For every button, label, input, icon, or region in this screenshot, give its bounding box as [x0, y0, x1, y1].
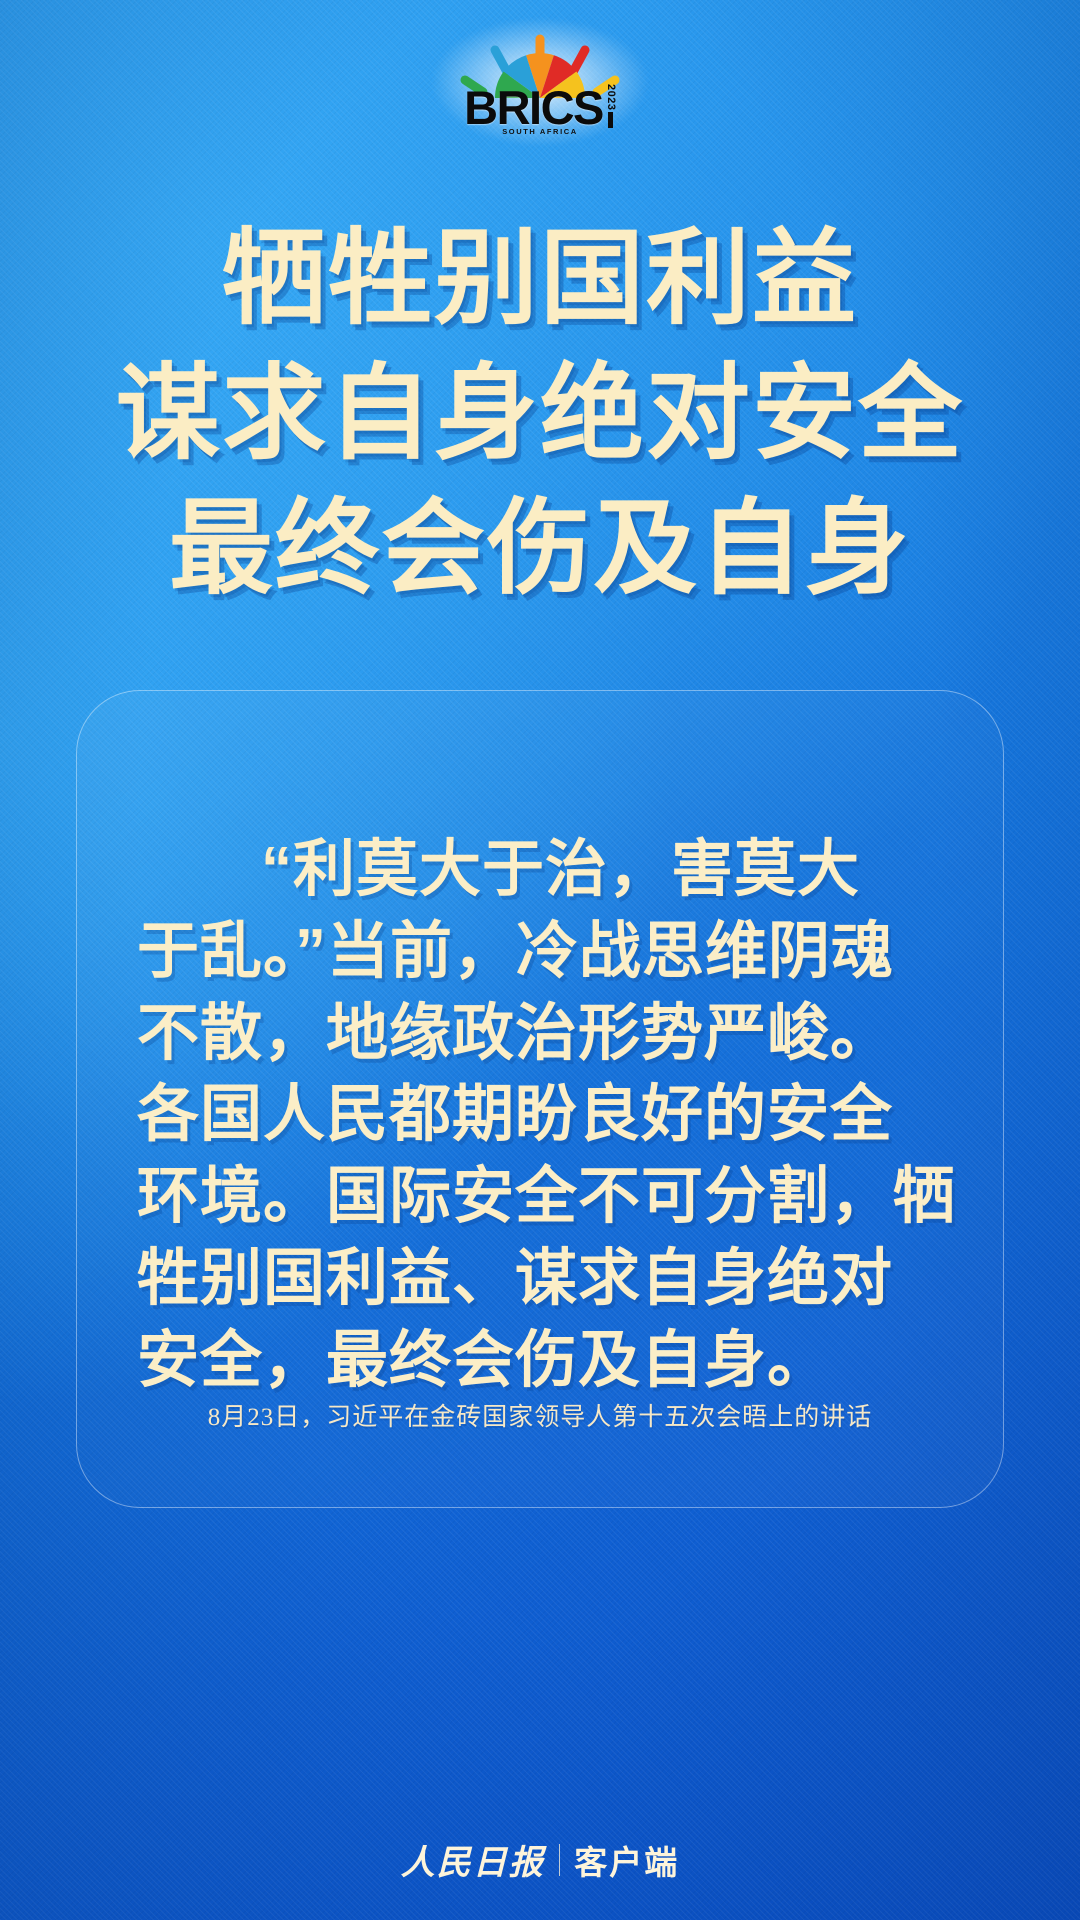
page-title: 牺牲别国利益 谋求自身绝对安全 最终会伤及自身: [0, 212, 1080, 618]
logo-subtitle: SOUTH AFRICA: [415, 127, 665, 136]
logo-wordmark-row: BRICS 2023: [415, 84, 665, 130]
headline-line-3: 最终会伤及自身: [0, 482, 1080, 617]
headline-line-2: 谋求自身绝对安全: [0, 347, 1080, 482]
product-name: 客户端: [574, 1836, 679, 1884]
quote-line-2: 于乱。”当前，冷战思维阴魂: [137, 911, 943, 993]
quote-line-4: 各国人民都期盼良好的安全: [137, 1074, 943, 1156]
footer-divider: [559, 1844, 561, 1876]
brics-wordmark: BRICS: [464, 85, 603, 130]
quote-attribution: 8月23日，习近平在金砖国家领导人第十五次会晤上的讲话: [77, 1397, 1003, 1433]
publisher-name: 人民日报: [401, 1835, 545, 1884]
quote-line-5: 环境。国际安全不可分割，牺: [137, 1156, 943, 1238]
quote-line-7: 安全，最终会伤及自身。: [137, 1320, 943, 1402]
logo-year-block: 2023: [605, 84, 616, 130]
quote-line-1: “利莫大于治，害莫大: [137, 829, 943, 911]
footer-branding: 人民日报 客户端: [0, 1835, 1080, 1884]
quote-card: “利莫大于治，害莫大 于乱。”当前，冷战思维阴魂 不散，地缘政治形势严峻。 各国…: [76, 690, 1004, 1508]
quote-line-3: 不散，地缘政治形势严峻。: [137, 993, 943, 1075]
poster-root: BRICS 2023 SOUTH AFRICA 牺牲别国利益 谋求自身绝对安全 …: [0, 0, 1080, 1920]
quote-line-6: 牲别国利益、谋求自身绝对: [137, 1238, 943, 1320]
headline-line-1: 牺牲别国利益: [0, 212, 1080, 347]
brics-logo: BRICS 2023 SOUTH AFRICA: [415, 24, 665, 136]
quote-text: “利莫大于治，害莫大 于乱。”当前，冷战思维阴魂 不散，地缘政治形势严峻。 各国…: [137, 829, 943, 1402]
brics-logo-block: BRICS 2023 SOUTH AFRICA: [0, 24, 1080, 136]
logo-year: 2023: [605, 84, 616, 110]
